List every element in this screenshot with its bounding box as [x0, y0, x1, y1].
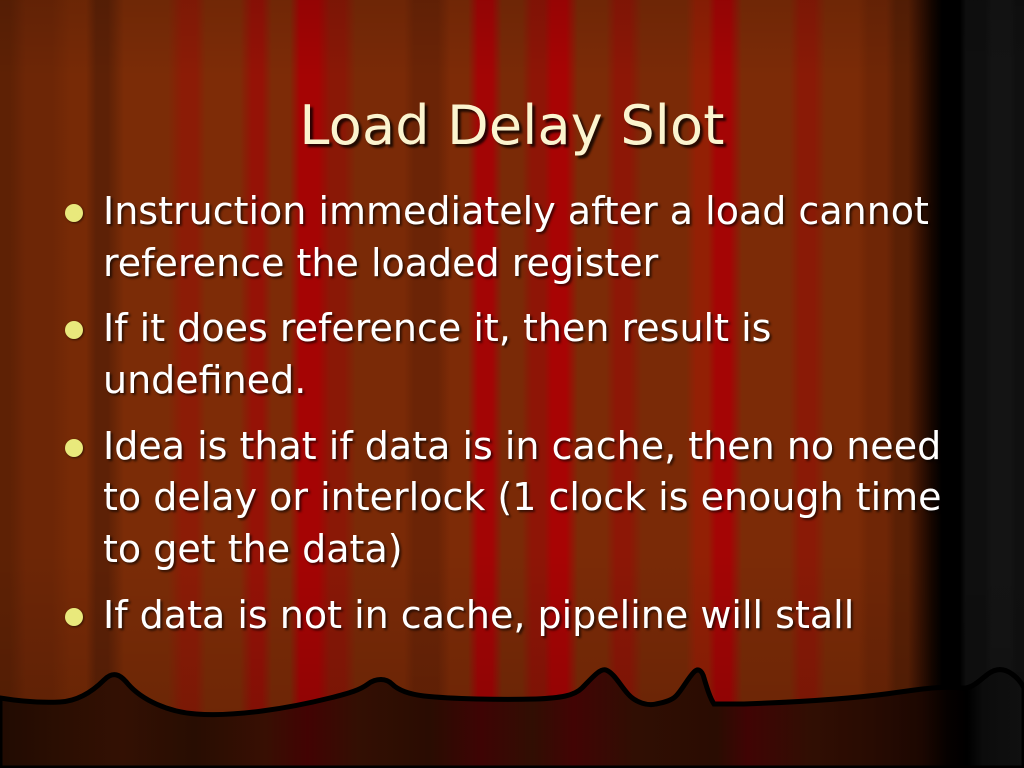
- filled-circle-bullet-icon: [65, 204, 83, 222]
- list-item: If it does reference it, then result is …: [57, 303, 947, 406]
- slide-title: Load Delay Slot: [0, 98, 1024, 155]
- filled-circle-bullet-icon: [65, 439, 83, 457]
- bullet-text: If it does reference it, then result is …: [103, 303, 947, 406]
- list-item: If data is not in cache, pipeline will s…: [57, 590, 947, 642]
- filled-circle-bullet-icon: [65, 321, 83, 339]
- list-item: Instruction immediately after a load can…: [57, 186, 947, 289]
- filled-circle-bullet-icon: [65, 608, 83, 626]
- bullet-text: Idea is that if data is in cache, then n…: [103, 421, 947, 576]
- slide-bullet-list: Instruction immediately after a load can…: [57, 186, 947, 641]
- list-item: Idea is that if data is in cache, then n…: [57, 421, 947, 576]
- bullet-text: Instruction immediately after a load can…: [103, 186, 947, 289]
- bullet-text: If data is not in cache, pipeline will s…: [103, 590, 947, 642]
- presentation-slide: Load Delay Slot Instruction immediately …: [0, 0, 1024, 768]
